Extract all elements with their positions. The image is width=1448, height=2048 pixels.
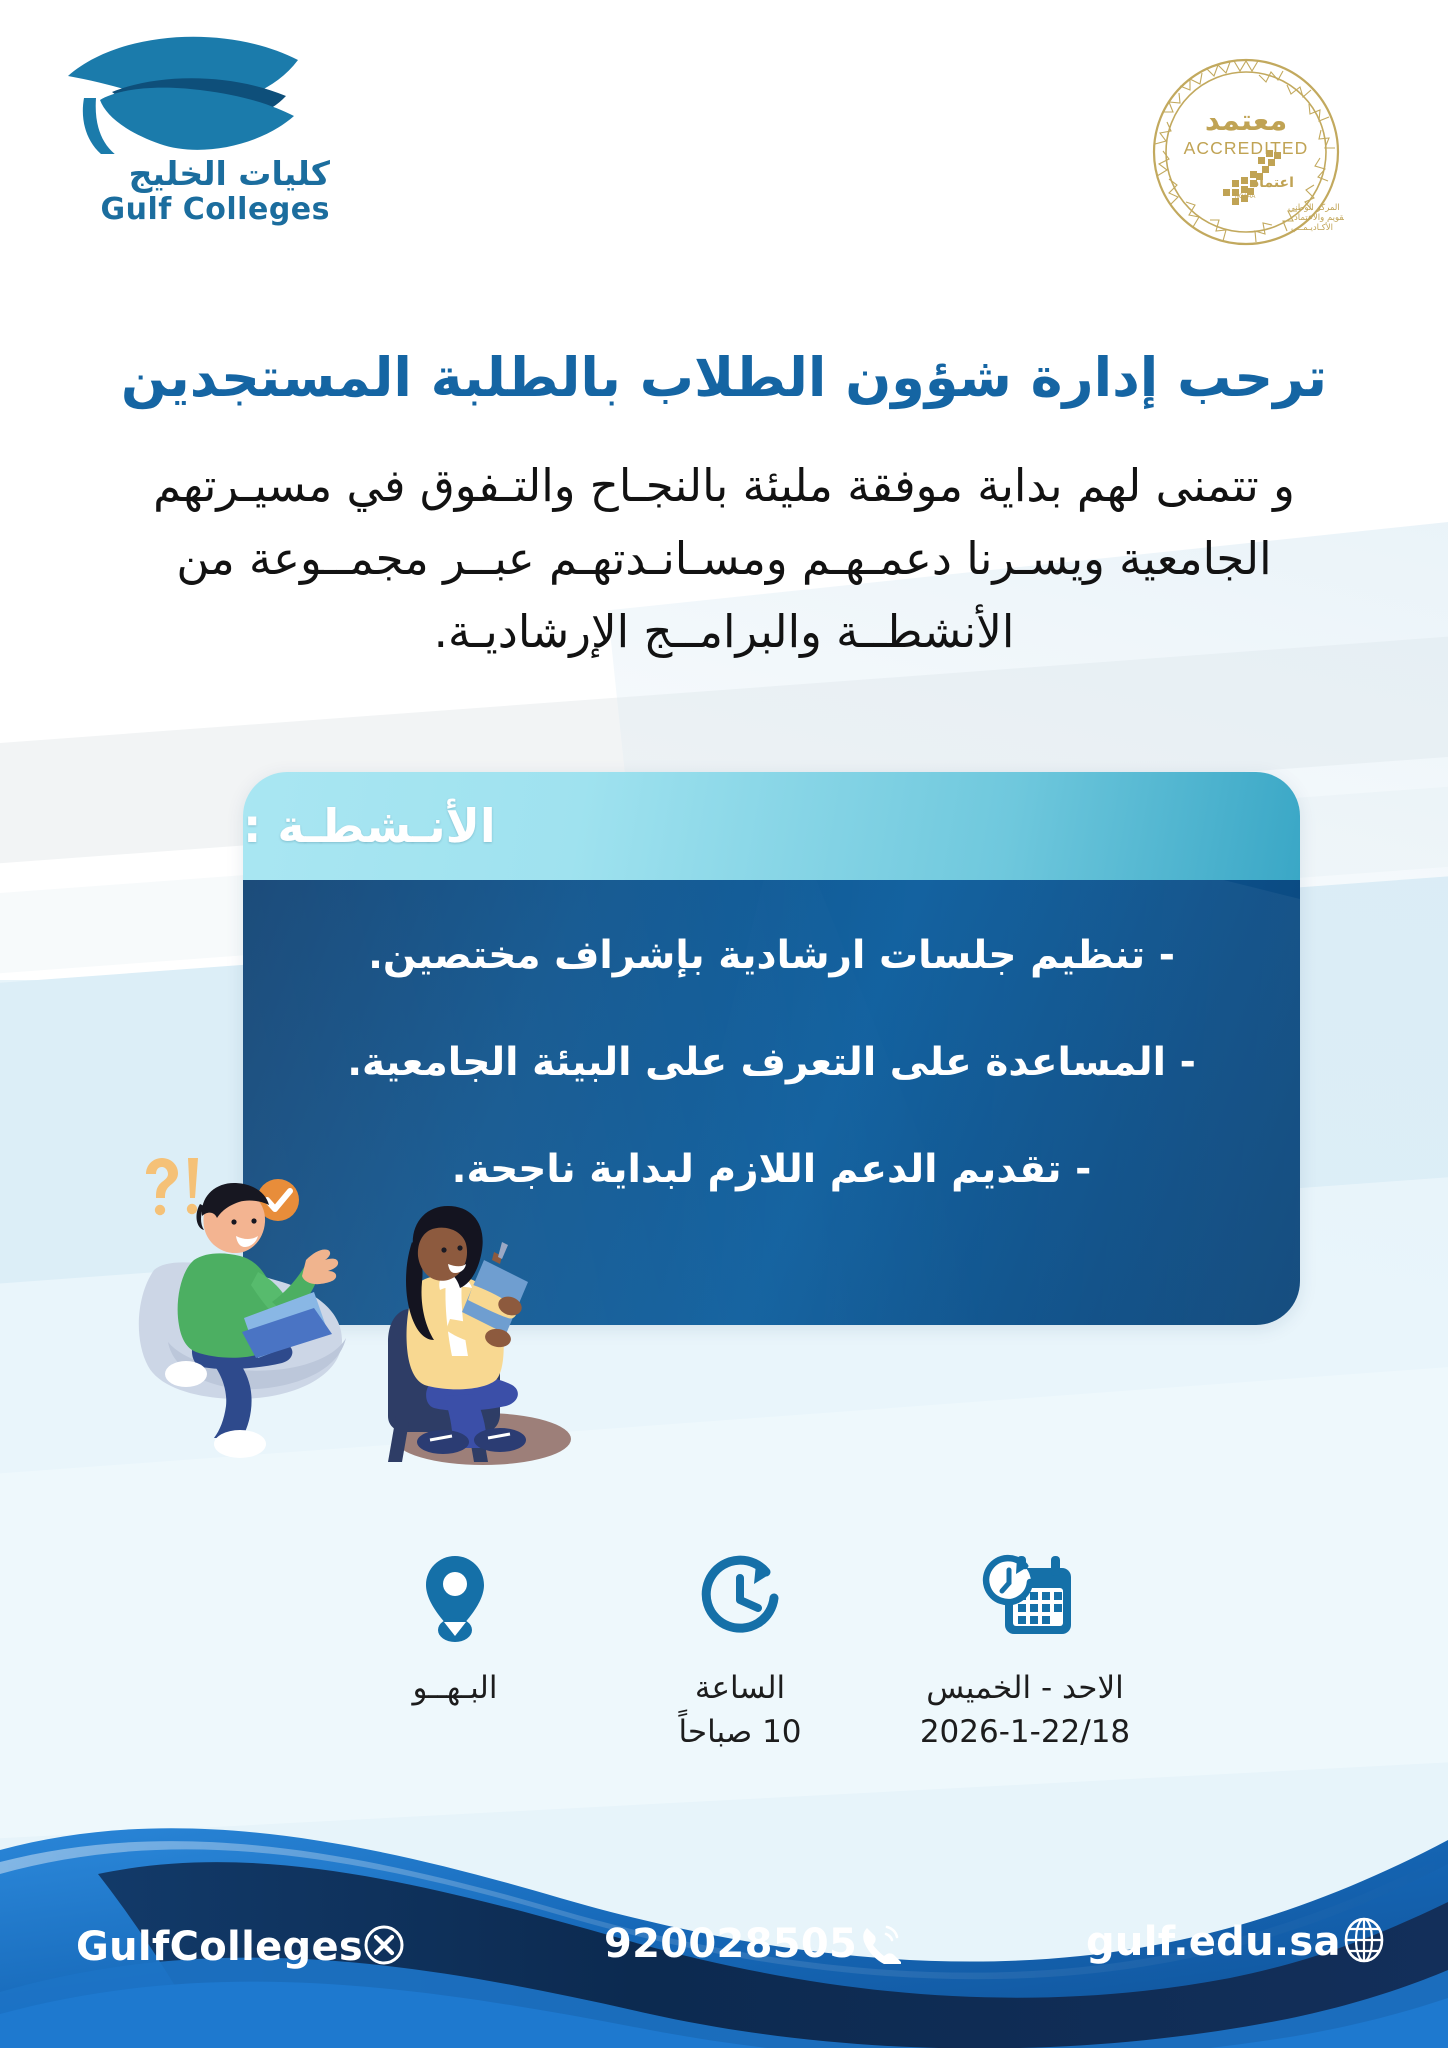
- clock-icon: [694, 1550, 786, 1646]
- logo-arabic-name: كليات الخليج: [80, 154, 330, 193]
- svg-text:NCAAA: NCAAA: [1235, 194, 1256, 200]
- footer-phone[interactable]: 920028505: [590, 1920, 901, 1968]
- footer-phone-text: 920028505: [604, 1921, 857, 1967]
- footer-website[interactable]: gulf.edu.sa: [1072, 1916, 1387, 1968]
- footer-waves: [0, 1778, 1448, 2048]
- list-item: - تنظيم جلسات ارشادية بإشراف مختصين.: [307, 932, 1236, 981]
- phone-icon: [857, 1920, 901, 1968]
- x-twitter-icon: [363, 1924, 405, 1970]
- svg-text:للتقويم والاعتماد: للتقويم والاعتماد: [1294, 213, 1344, 223]
- counseling-illustration-svg: [108, 1142, 638, 1472]
- accreditation-badge: معتمد ACCREDITED اعتماد NCAAA المركز الو…: [1148, 52, 1344, 252]
- footer: GulfColleges 920028505 gulf.edu.sa: [0, 1778, 1448, 2048]
- globe-icon: [1341, 1916, 1387, 1968]
- info-time-label: الساعة: [695, 1666, 785, 1710]
- svg-text:اعتماد: اعتماد: [1252, 175, 1294, 191]
- footer-social-handle[interactable]: GulfColleges: [62, 1924, 405, 1970]
- svg-text:ACCREDITED: ACCREDITED: [1184, 138, 1309, 158]
- counseling-session-illustration: [108, 1142, 638, 1472]
- gulf-wave-logo-icon: [60, 34, 330, 154]
- info-date-sub: 2026-1-22/18: [920, 1710, 1130, 1754]
- list-item: - المساعدة على التعرف على البيئة الجامعي…: [307, 1039, 1236, 1088]
- footer-website-text: gulf.edu.sa: [1086, 1919, 1341, 1965]
- info-time-sub: 10 صباحاً: [678, 1710, 801, 1754]
- logo-english-name: Gulf Colleges: [80, 192, 330, 227]
- info-item-time: الساعة 10 صباحاً: [615, 1550, 865, 1754]
- info-item-date: الاحد - الخميس 2026-1-22/18: [900, 1550, 1150, 1754]
- page-title: ترحب إدارة شؤون الطلاب بالطلبة المستجدين: [90, 342, 1358, 414]
- svg-text:المركز الوطني: المركز الوطني: [1288, 203, 1340, 213]
- info-date-label: الاحد - الخميس: [926, 1666, 1124, 1710]
- calendar-clock-icon: [973, 1550, 1077, 1646]
- question-exclamation-marks: [146, 1158, 198, 1215]
- intro-paragraph: و تتمنى لهم بداية موفقة مليئة بالنجـاح و…: [150, 450, 1298, 669]
- info-item-location: البـهــو: [330, 1550, 580, 1710]
- location-pin-icon: [420, 1550, 490, 1646]
- event-info-row: البـهــو الساعة 10 صباحاً: [330, 1550, 1150, 1780]
- accredited-seal-icon: معتمد ACCREDITED اعتماد NCAAA المركز الو…: [1148, 52, 1344, 252]
- info-location-label: البـهــو: [413, 1666, 498, 1710]
- activities-card-title: الأنـشطـة :: [243, 799, 536, 853]
- svg-text:الأكـاديـمــي: الأكـاديـمــي: [1291, 222, 1333, 233]
- activities-card-header: الأنـشطـة :: [243, 772, 1300, 880]
- gulf-colleges-logo: كليات الخليج Gulf Colleges: [60, 34, 330, 214]
- svg-text:معتمد: معتمد: [1205, 103, 1287, 137]
- footer-social-text: GulfColleges: [76, 1924, 363, 1970]
